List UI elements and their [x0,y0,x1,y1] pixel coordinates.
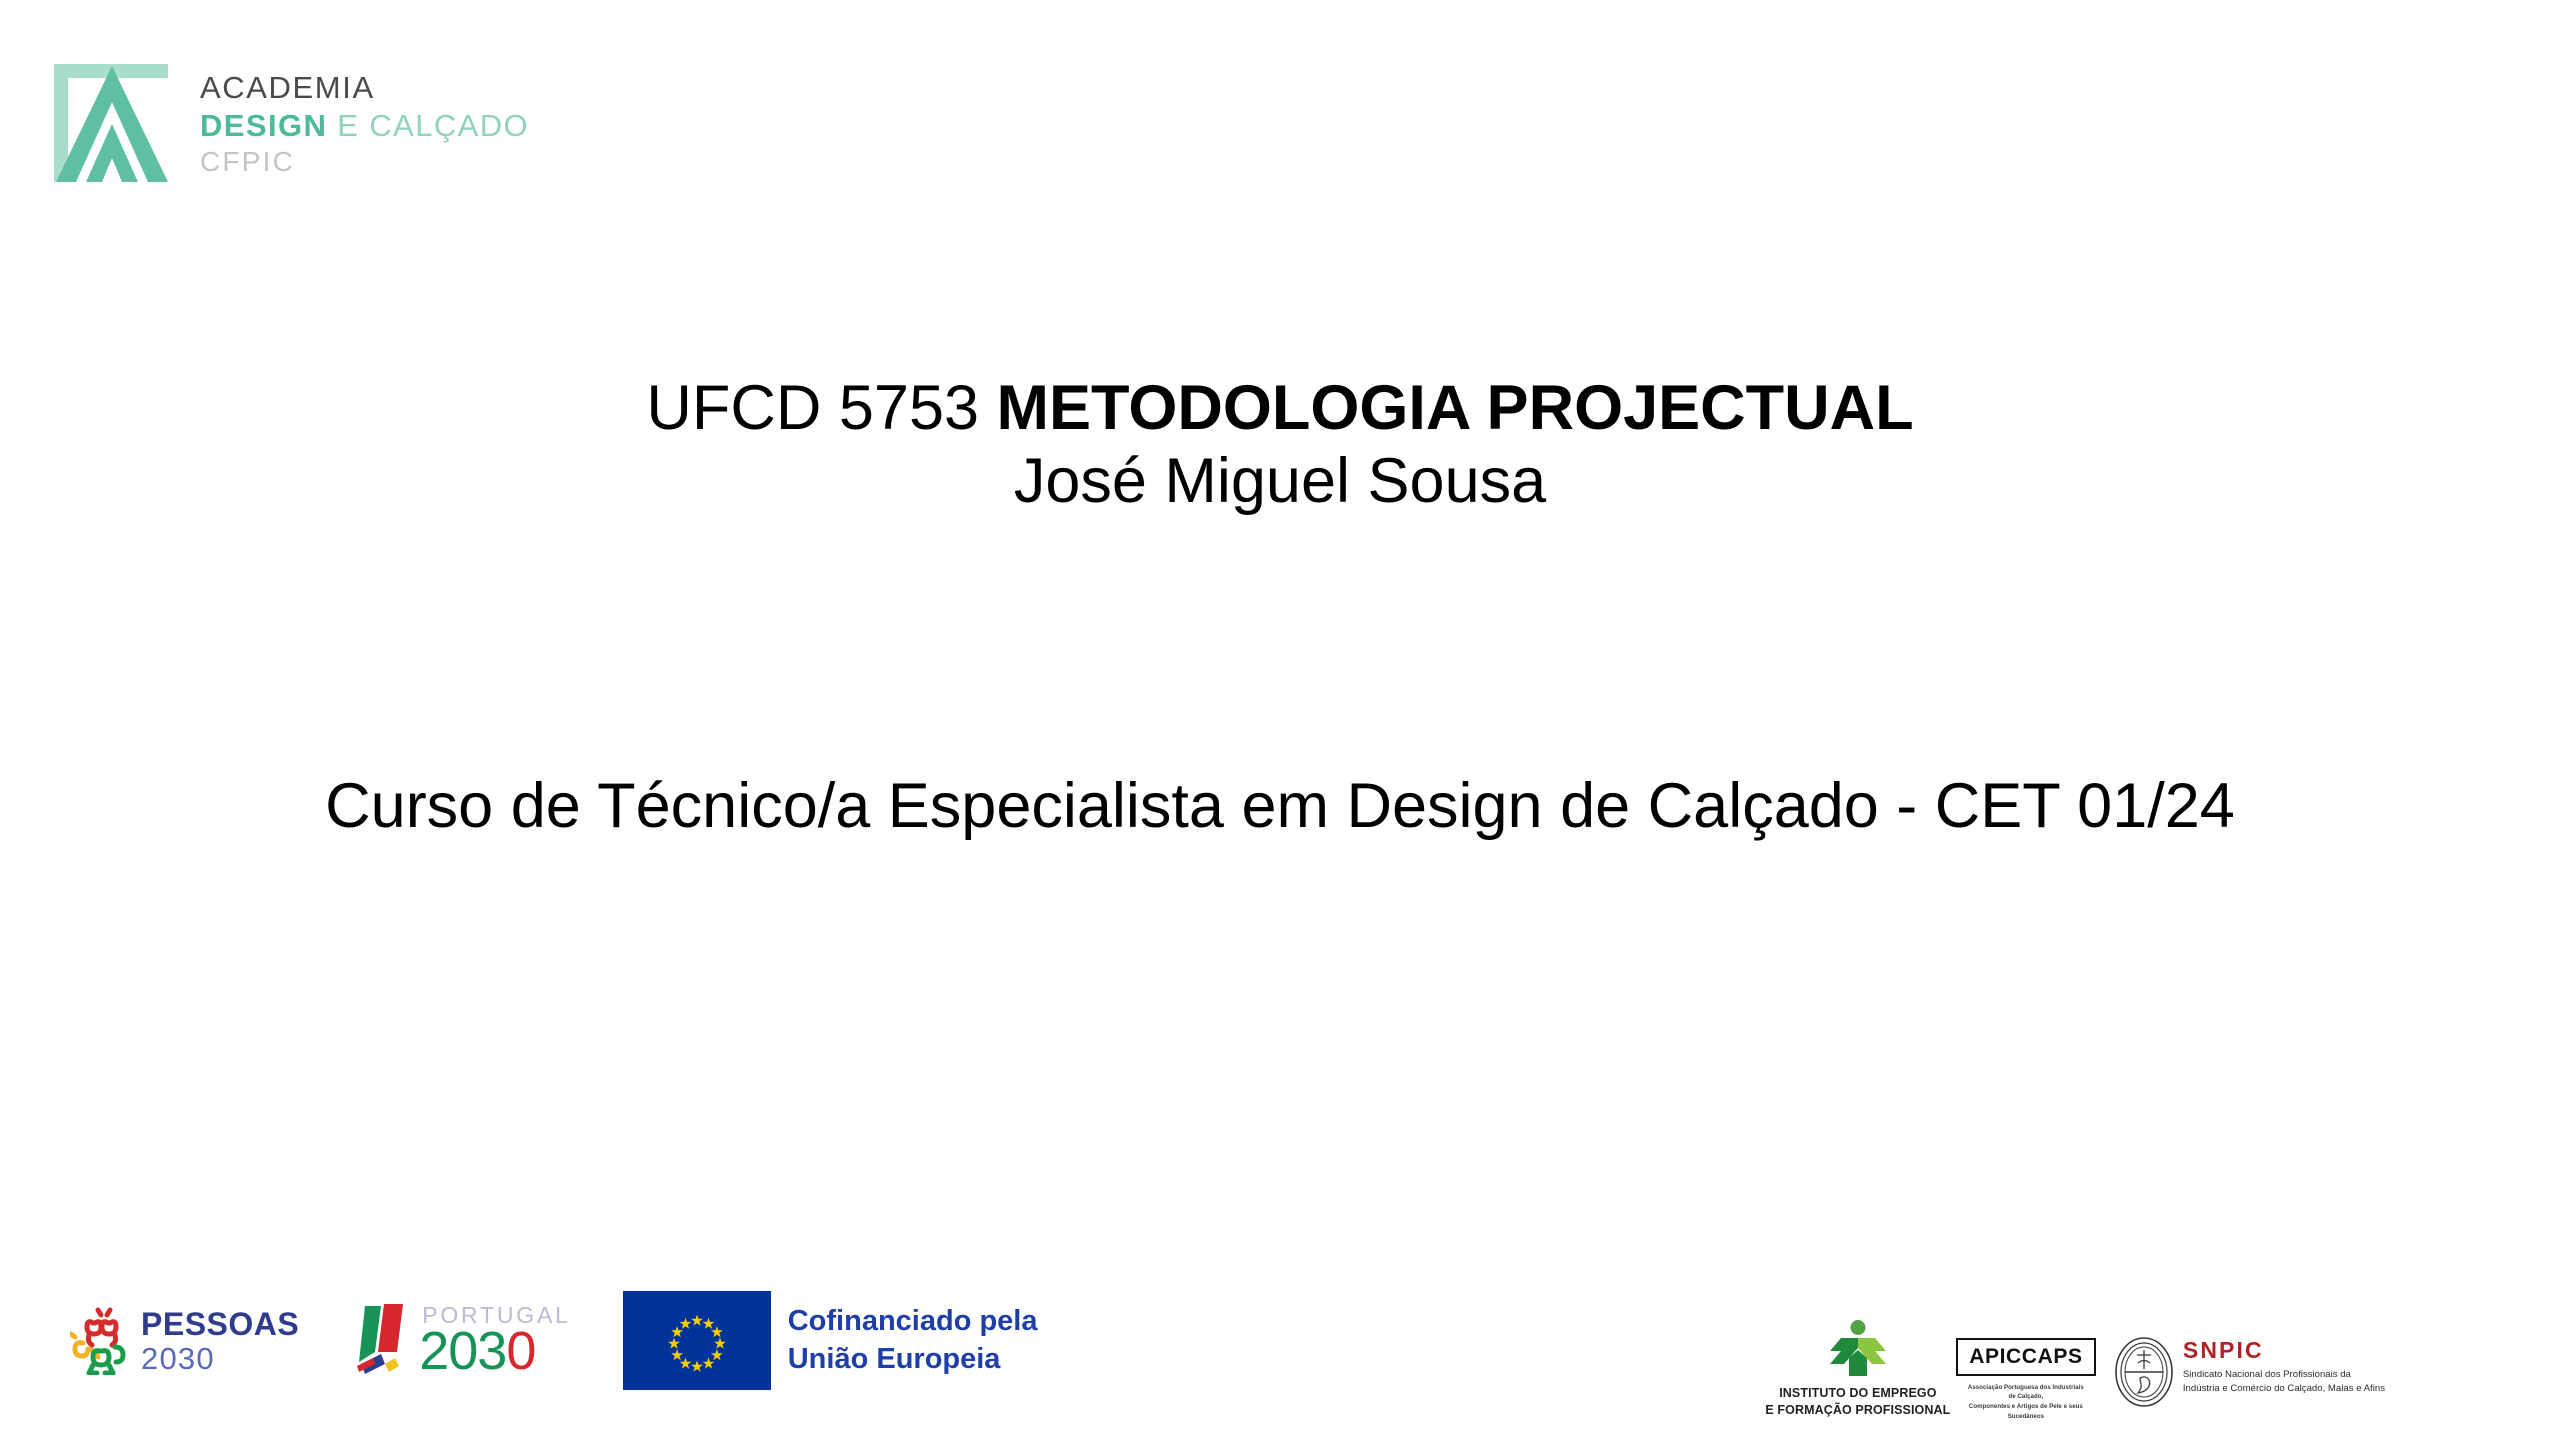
iefp-caption: INSTITUTO DO EMPREGO E FORMAÇÃO PROFISSI… [1765,1385,1950,1420]
snpic-caption-line-2: Indústria e Comércio do Calçado, Malas e… [2183,1382,2385,1397]
snpic-name: SNPIC [2183,1339,2385,1362]
eu-cofunding-caption: Cofinanciado pela União Europeia [788,1303,1038,1377]
pessoas-word: PESSOAS [141,1308,299,1340]
portugal-flag-icon [351,1300,413,1382]
snpic-text: SNPIC Sindicato Nacional dos Profissiona… [2183,1336,2385,1397]
portugal-year-0: 0 [506,1321,535,1381]
snpic-caption: Sindicato Nacional dos Profissionais da … [2183,1368,2385,1397]
eu-caption-line-2: União Europeia [788,1341,1038,1378]
brand-line-design-calcado: DESIGN E CALÇADO [200,110,529,141]
apiccaps-name: APICCAPS [1956,1338,2095,1376]
european-union-flag-icon [623,1291,771,1390]
logo-pessoas-2030: PESSOAS 2030 [70,1307,299,1375]
logo-european-union: Cofinanciado pela União Europeia [623,1291,1038,1390]
eu-caption-line-1: Cofinanciado pela [788,1303,1038,1340]
pessoas-wordmark: PESSOAS 2030 [141,1308,299,1374]
snpic-seal-icon [2114,1336,2174,1408]
apiccaps-caption-line-1: Associação Portuguesa dos Industriais de… [1966,1383,2086,1403]
portugal-year-3: 3 [477,1321,506,1381]
portugal-wordmark: PORTUGAL 2030 [419,1305,571,1377]
iefp-person-icon [1827,1320,1889,1376]
brand-line-academia: ACADEMIA [200,72,529,103]
apiccaps-caption: Associação Portuguesa dos Industriais de… [1966,1383,2086,1422]
iefp-caption-line-1: INSTITUTO DO EMPREGO [1765,1385,1950,1402]
apiccaps-caption-line-2: Componentes e Artigos de Pele e seus Suc… [1966,1402,2086,1422]
portugal-year: 2030 [419,1327,571,1377]
brand-word-calcado: E CALÇADO [327,108,529,143]
pessoas-year: 2030 [141,1343,299,1374]
logo-apiccaps: APICCAPS Associação Portuguesa dos Indus… [1966,1338,2086,1422]
iefp-caption-line-2: E FORMAÇÃO PROFISSIONAL [1765,1402,1950,1419]
logo-iefp: INSTITUTO DO EMPREGO E FORMAÇÃO PROFISSI… [1778,1320,1938,1420]
snpic-caption-line-1: Sindicato Nacional dos Profissionais da [2183,1368,2385,1383]
brand-line-cfpic: CFPIC [200,148,529,176]
presenter-name: José Miguel Sousa [0,445,2560,518]
title-course-code: UFCD 5753 [646,373,996,443]
pessoas-figures-icon [70,1307,132,1375]
funding-logos-left: PESSOAS 2030 PORTUGAL 2030 [70,1291,1038,1390]
brand-word-design: DESIGN [200,108,327,143]
academy-wordmark: ACADEMIA DESIGN E CALÇADO CFPIC [200,62,529,176]
logo-portugal-2030: PORTUGAL 2030 [351,1300,571,1382]
portugal-year-20: 20 [419,1321,477,1381]
academia-logo-mark-icon [52,62,170,184]
presentation-slide: ACADEMIA DESIGN E CALÇADO CFPIC UFCD 575… [0,0,2560,1440]
page-title: UFCD 5753 METODOLOGIA PROJECTUAL [0,372,2560,445]
academy-logo: ACADEMIA DESIGN E CALÇADO CFPIC [52,62,529,184]
logo-snpic: SNPIC Sindicato Nacional dos Profissiona… [2114,1336,2385,1408]
partner-logos-right: INSTITUTO DO EMPREGO E FORMAÇÃO PROFISSI… [1778,1320,2385,1422]
course-subtitle: Curso de Técnico/a Especialista em Desig… [0,770,2560,842]
title-block: UFCD 5753 METODOLOGIA PROJECTUAL José Mi… [0,372,2560,518]
title-subject: METODOLOGIA PROJECTUAL [997,373,1914,443]
